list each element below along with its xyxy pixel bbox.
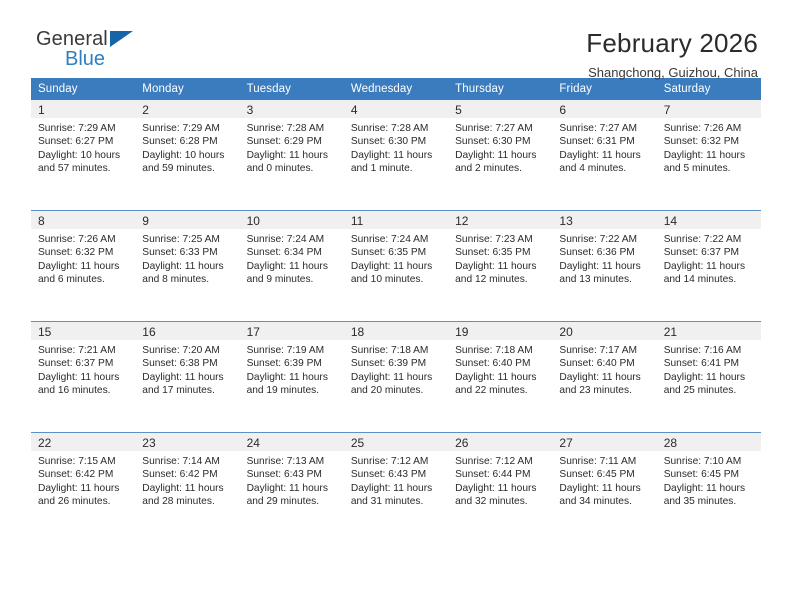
location-subtitle: Shangchong, Guizhou, China (586, 64, 758, 82)
sunrise-text: Sunrise: 7:15 AM (38, 455, 129, 468)
title-block: February 2026 Shangchong, Guizhou, China (586, 28, 761, 82)
sunset-text: Sunset: 6:45 PM (559, 468, 650, 481)
sunrise-text: Sunrise: 7:29 AM (142, 122, 233, 135)
calendar-week-row: 15 Sunrise: 7:21 AM Sunset: 6:37 PM Dayl… (31, 322, 761, 433)
sunrise-text: Sunrise: 7:19 AM (247, 344, 338, 357)
day-details: Sunrise: 7:15 AM Sunset: 6:42 PM Dayligh… (31, 451, 135, 508)
day-cell[interactable]: 17 Sunrise: 7:19 AM Sunset: 6:39 PM Dayl… (240, 322, 344, 433)
weekday-header-tuesday: Tuesday (240, 78, 344, 100)
sunset-text: Sunset: 6:35 PM (455, 246, 546, 259)
daylight-text: Daylight: 11 hours and 10 minutes. (351, 260, 442, 287)
day-number: 17 (240, 322, 344, 340)
sunset-text: Sunset: 6:40 PM (455, 357, 546, 370)
daylight-text: Daylight: 10 hours and 59 minutes. (142, 149, 233, 176)
day-number: 3 (240, 100, 344, 118)
weekday-header-monday: Monday (135, 78, 239, 100)
logo-triangle-icon (110, 31, 133, 47)
daylight-text: Daylight: 11 hours and 26 minutes. (38, 482, 129, 509)
weekday-header-sunday: Sunday (31, 78, 135, 100)
sunset-text: Sunset: 6:39 PM (351, 357, 442, 370)
day-details: Sunrise: 7:22 AM Sunset: 6:37 PM Dayligh… (657, 229, 761, 286)
day-cell[interactable]: 26 Sunrise: 7:12 AM Sunset: 6:44 PM Dayl… (448, 433, 552, 544)
daylight-text: Daylight: 11 hours and 16 minutes. (38, 371, 129, 398)
day-number: 6 (552, 100, 656, 118)
day-number: 24 (240, 433, 344, 451)
day-number: 20 (552, 322, 656, 340)
day-cell[interactable]: 4 Sunrise: 7:28 AM Sunset: 6:30 PM Dayli… (344, 100, 448, 211)
day-details: Sunrise: 7:18 AM Sunset: 6:40 PM Dayligh… (448, 340, 552, 397)
day-number: 11 (344, 211, 448, 229)
sunset-text: Sunset: 6:27 PM (38, 135, 129, 148)
daylight-text: Daylight: 11 hours and 22 minutes. (455, 371, 546, 398)
day-cell[interactable]: 25 Sunrise: 7:12 AM Sunset: 6:43 PM Dayl… (344, 433, 448, 544)
sunset-text: Sunset: 6:36 PM (559, 246, 650, 259)
daylight-text: Daylight: 11 hours and 25 minutes. (664, 371, 755, 398)
day-number: 2 (135, 100, 239, 118)
sunrise-text: Sunrise: 7:28 AM (351, 122, 442, 135)
day-cell[interactable]: 10 Sunrise: 7:24 AM Sunset: 6:34 PM Dayl… (240, 211, 344, 322)
day-details: Sunrise: 7:11 AM Sunset: 6:45 PM Dayligh… (552, 451, 656, 508)
sunset-text: Sunset: 6:29 PM (247, 135, 338, 148)
general-blue-logo: General Blue (31, 28, 186, 69)
daylight-text: Daylight: 11 hours and 17 minutes. (142, 371, 233, 398)
day-details: Sunrise: 7:29 AM Sunset: 6:28 PM Dayligh… (135, 118, 239, 175)
sunset-text: Sunset: 6:32 PM (664, 135, 755, 148)
daylight-text: Daylight: 11 hours and 0 minutes. (247, 149, 338, 176)
day-number: 13 (552, 211, 656, 229)
day-cell[interactable]: 2 Sunrise: 7:29 AM Sunset: 6:28 PM Dayli… (135, 100, 239, 211)
sunset-text: Sunset: 6:40 PM (559, 357, 650, 370)
day-number: 15 (31, 322, 135, 340)
day-number: 26 (448, 433, 552, 451)
sunrise-text: Sunrise: 7:11 AM (559, 455, 650, 468)
sunset-text: Sunset: 6:44 PM (455, 468, 546, 481)
day-details: Sunrise: 7:12 AM Sunset: 6:43 PM Dayligh… (344, 451, 448, 508)
sunset-text: Sunset: 6:43 PM (247, 468, 338, 481)
day-number: 25 (344, 433, 448, 451)
daylight-text: Daylight: 11 hours and 29 minutes. (247, 482, 338, 509)
sunrise-text: Sunrise: 7:26 AM (38, 233, 129, 246)
day-number: 1 (31, 100, 135, 118)
day-details: Sunrise: 7:24 AM Sunset: 6:34 PM Dayligh… (240, 229, 344, 286)
day-details: Sunrise: 7:29 AM Sunset: 6:27 PM Dayligh… (31, 118, 135, 175)
sunrise-text: Sunrise: 7:27 AM (455, 122, 546, 135)
day-details: Sunrise: 7:12 AM Sunset: 6:44 PM Dayligh… (448, 451, 552, 508)
daylight-text: Daylight: 11 hours and 14 minutes. (664, 260, 755, 287)
day-details: Sunrise: 7:25 AM Sunset: 6:33 PM Dayligh… (135, 229, 239, 286)
daylight-text: Daylight: 11 hours and 6 minutes. (38, 260, 129, 287)
sunset-text: Sunset: 6:31 PM (559, 135, 650, 148)
sunrise-text: Sunrise: 7:14 AM (142, 455, 233, 468)
day-number: 27 (552, 433, 656, 451)
sunset-text: Sunset: 6:30 PM (351, 135, 442, 148)
day-cell[interactable]: 15 Sunrise: 7:21 AM Sunset: 6:37 PM Dayl… (31, 322, 135, 433)
day-details: Sunrise: 7:20 AM Sunset: 6:38 PM Dayligh… (135, 340, 239, 397)
sunrise-text: Sunrise: 7:22 AM (559, 233, 650, 246)
daylight-text: Daylight: 11 hours and 34 minutes. (559, 482, 650, 509)
sunrise-text: Sunrise: 7:22 AM (664, 233, 755, 246)
day-cell[interactable]: 14 Sunrise: 7:22 AM Sunset: 6:37 PM Dayl… (657, 211, 761, 322)
sunrise-text: Sunrise: 7:20 AM (142, 344, 233, 357)
daylight-text: Daylight: 11 hours and 12 minutes. (455, 260, 546, 287)
day-number: 7 (657, 100, 761, 118)
day-cell[interactable]: 19 Sunrise: 7:18 AM Sunset: 6:40 PM Dayl… (448, 322, 552, 433)
sunrise-text: Sunrise: 7:12 AM (455, 455, 546, 468)
sunrise-text: Sunrise: 7:10 AM (664, 455, 755, 468)
sunrise-text: Sunrise: 7:28 AM (247, 122, 338, 135)
sunset-text: Sunset: 6:33 PM (142, 246, 233, 259)
day-details: Sunrise: 7:27 AM Sunset: 6:31 PM Dayligh… (552, 118, 656, 175)
calendar-week-row: 1 Sunrise: 7:29 AM Sunset: 6:27 PM Dayli… (31, 100, 761, 211)
daylight-text: Daylight: 11 hours and 31 minutes. (351, 482, 442, 509)
daylight-text: Daylight: 11 hours and 5 minutes. (664, 149, 755, 176)
day-cell[interactable]: 11 Sunrise: 7:24 AM Sunset: 6:35 PM Dayl… (344, 211, 448, 322)
day-number: 5 (448, 100, 552, 118)
sunrise-text: Sunrise: 7:25 AM (142, 233, 233, 246)
sunrise-text: Sunrise: 7:21 AM (38, 344, 129, 357)
sunset-text: Sunset: 6:34 PM (247, 246, 338, 259)
day-details: Sunrise: 7:19 AM Sunset: 6:39 PM Dayligh… (240, 340, 344, 397)
day-cell[interactable]: 24 Sunrise: 7:13 AM Sunset: 6:43 PM Dayl… (240, 433, 344, 544)
daylight-text: Daylight: 11 hours and 19 minutes. (247, 371, 338, 398)
sunset-text: Sunset: 6:38 PM (142, 357, 233, 370)
day-number: 10 (240, 211, 344, 229)
day-cell[interactable]: 8 Sunrise: 7:26 AM Sunset: 6:32 PM Dayli… (31, 211, 135, 322)
day-details: Sunrise: 7:17 AM Sunset: 6:40 PM Dayligh… (552, 340, 656, 397)
daylight-text: Daylight: 11 hours and 4 minutes. (559, 149, 650, 176)
day-number: 16 (135, 322, 239, 340)
sunrise-text: Sunrise: 7:29 AM (38, 122, 129, 135)
sunrise-text: Sunrise: 7:26 AM (664, 122, 755, 135)
sunset-text: Sunset: 6:42 PM (38, 468, 129, 481)
sunrise-text: Sunrise: 7:17 AM (559, 344, 650, 357)
day-details: Sunrise: 7:23 AM Sunset: 6:35 PM Dayligh… (448, 229, 552, 286)
day-number: 8 (31, 211, 135, 229)
daylight-text: Daylight: 11 hours and 8 minutes. (142, 260, 233, 287)
day-details: Sunrise: 7:10 AM Sunset: 6:45 PM Dayligh… (657, 451, 761, 508)
sunset-text: Sunset: 6:39 PM (247, 357, 338, 370)
page-header: General Blue February 2026 Shangchong, G… (31, 0, 761, 72)
day-number: 12 (448, 211, 552, 229)
page-title: February 2026 (586, 28, 758, 58)
day-cell[interactable]: 23 Sunrise: 7:14 AM Sunset: 6:42 PM Dayl… (135, 433, 239, 544)
sunset-text: Sunset: 6:43 PM (351, 468, 442, 481)
sunrise-text: Sunrise: 7:27 AM (559, 122, 650, 135)
sunrise-text: Sunrise: 7:13 AM (247, 455, 338, 468)
calendar-page: General Blue February 2026 Shangchong, G… (0, 0, 792, 612)
day-details: Sunrise: 7:14 AM Sunset: 6:42 PM Dayligh… (135, 451, 239, 508)
day-number: 28 (657, 433, 761, 451)
calendar-week-row: 8 Sunrise: 7:26 AM Sunset: 6:32 PM Dayli… (31, 211, 761, 322)
daylight-text: Daylight: 10 hours and 57 minutes. (38, 149, 129, 176)
logo-text-blue: Blue (36, 49, 186, 69)
sunrise-sunset-calendar: Sunday Monday Tuesday Wednesday Thursday… (31, 78, 761, 543)
weekday-header-thursday: Thursday (448, 78, 552, 100)
sunrise-text: Sunrise: 7:23 AM (455, 233, 546, 246)
day-number: 9 (135, 211, 239, 229)
daylight-text: Daylight: 11 hours and 9 minutes. (247, 260, 338, 287)
day-cell[interactable]: 28 Sunrise: 7:10 AM Sunset: 6:45 PM Dayl… (657, 433, 761, 544)
sunset-text: Sunset: 6:35 PM (351, 246, 442, 259)
sunset-text: Sunset: 6:28 PM (142, 135, 233, 148)
day-number: 4 (344, 100, 448, 118)
day-details: Sunrise: 7:28 AM Sunset: 6:29 PM Dayligh… (240, 118, 344, 175)
day-cell[interactable]: 18 Sunrise: 7:18 AM Sunset: 6:39 PM Dayl… (344, 322, 448, 433)
daylight-text: Daylight: 11 hours and 1 minute. (351, 149, 442, 176)
day-details: Sunrise: 7:18 AM Sunset: 6:39 PM Dayligh… (344, 340, 448, 397)
sunset-text: Sunset: 6:37 PM (38, 357, 129, 370)
day-details: Sunrise: 7:22 AM Sunset: 6:36 PM Dayligh… (552, 229, 656, 286)
day-number: 19 (448, 322, 552, 340)
day-cell[interactable]: 20 Sunrise: 7:17 AM Sunset: 6:40 PM Dayl… (552, 322, 656, 433)
calendar-body: 1 Sunrise: 7:29 AM Sunset: 6:27 PM Dayli… (31, 100, 761, 543)
sunset-text: Sunset: 6:37 PM (664, 246, 755, 259)
day-number: 21 (657, 322, 761, 340)
daylight-text: Daylight: 11 hours and 13 minutes. (559, 260, 650, 287)
day-cell[interactable]: 9 Sunrise: 7:25 AM Sunset: 6:33 PM Dayli… (135, 211, 239, 322)
sunrise-text: Sunrise: 7:16 AM (664, 344, 755, 357)
day-number: 14 (657, 211, 761, 229)
day-details: Sunrise: 7:24 AM Sunset: 6:35 PM Dayligh… (344, 229, 448, 286)
daylight-text: Daylight: 11 hours and 2 minutes. (455, 149, 546, 176)
day-cell[interactable]: 27 Sunrise: 7:11 AM Sunset: 6:45 PM Dayl… (552, 433, 656, 544)
day-number: 22 (31, 433, 135, 451)
sunset-text: Sunset: 6:41 PM (664, 357, 755, 370)
day-details: Sunrise: 7:27 AM Sunset: 6:30 PM Dayligh… (448, 118, 552, 175)
day-details: Sunrise: 7:26 AM Sunset: 6:32 PM Dayligh… (657, 118, 761, 175)
day-number: 23 (135, 433, 239, 451)
daylight-text: Daylight: 11 hours and 23 minutes. (559, 371, 650, 398)
day-number: 18 (344, 322, 448, 340)
sunset-text: Sunset: 6:42 PM (142, 468, 233, 481)
day-cell[interactable]: 5 Sunrise: 7:27 AM Sunset: 6:30 PM Dayli… (448, 100, 552, 211)
sunset-text: Sunset: 6:45 PM (664, 468, 755, 481)
sunset-text: Sunset: 6:30 PM (455, 135, 546, 148)
calendar-week-row: 22 Sunrise: 7:15 AM Sunset: 6:42 PM Dayl… (31, 433, 761, 544)
day-details: Sunrise: 7:13 AM Sunset: 6:43 PM Dayligh… (240, 451, 344, 508)
day-details: Sunrise: 7:28 AM Sunset: 6:30 PM Dayligh… (344, 118, 448, 175)
sunrise-text: Sunrise: 7:12 AM (351, 455, 442, 468)
day-cell[interactable]: 22 Sunrise: 7:15 AM Sunset: 6:42 PM Dayl… (31, 433, 135, 544)
day-cell[interactable]: 13 Sunrise: 7:22 AM Sunset: 6:36 PM Dayl… (552, 211, 656, 322)
daylight-text: Daylight: 11 hours and 20 minutes. (351, 371, 442, 398)
day-details: Sunrise: 7:16 AM Sunset: 6:41 PM Dayligh… (657, 340, 761, 397)
sunrise-text: Sunrise: 7:24 AM (351, 233, 442, 246)
day-cell[interactable]: 21 Sunrise: 7:16 AM Sunset: 6:41 PM Dayl… (657, 322, 761, 433)
day-cell[interactable]: 3 Sunrise: 7:28 AM Sunset: 6:29 PM Dayli… (240, 100, 344, 211)
sunset-text: Sunset: 6:32 PM (38, 246, 129, 259)
day-cell[interactable]: 1 Sunrise: 7:29 AM Sunset: 6:27 PM Dayli… (31, 100, 135, 211)
day-cell[interactable]: 6 Sunrise: 7:27 AM Sunset: 6:31 PM Dayli… (552, 100, 656, 211)
sunrise-text: Sunrise: 7:24 AM (247, 233, 338, 246)
day-details: Sunrise: 7:26 AM Sunset: 6:32 PM Dayligh… (31, 229, 135, 286)
sunrise-text: Sunrise: 7:18 AM (455, 344, 546, 357)
daylight-text: Daylight: 11 hours and 28 minutes. (142, 482, 233, 509)
day-cell[interactable]: 7 Sunrise: 7:26 AM Sunset: 6:32 PM Dayli… (657, 100, 761, 211)
daylight-text: Daylight: 11 hours and 35 minutes. (664, 482, 755, 509)
day-cell[interactable]: 16 Sunrise: 7:20 AM Sunset: 6:38 PM Dayl… (135, 322, 239, 433)
day-cell[interactable]: 12 Sunrise: 7:23 AM Sunset: 6:35 PM Dayl… (448, 211, 552, 322)
day-details: Sunrise: 7:21 AM Sunset: 6:37 PM Dayligh… (31, 340, 135, 397)
sunrise-text: Sunrise: 7:18 AM (351, 344, 442, 357)
weekday-header-wednesday: Wednesday (344, 78, 448, 100)
daylight-text: Daylight: 11 hours and 32 minutes. (455, 482, 546, 509)
